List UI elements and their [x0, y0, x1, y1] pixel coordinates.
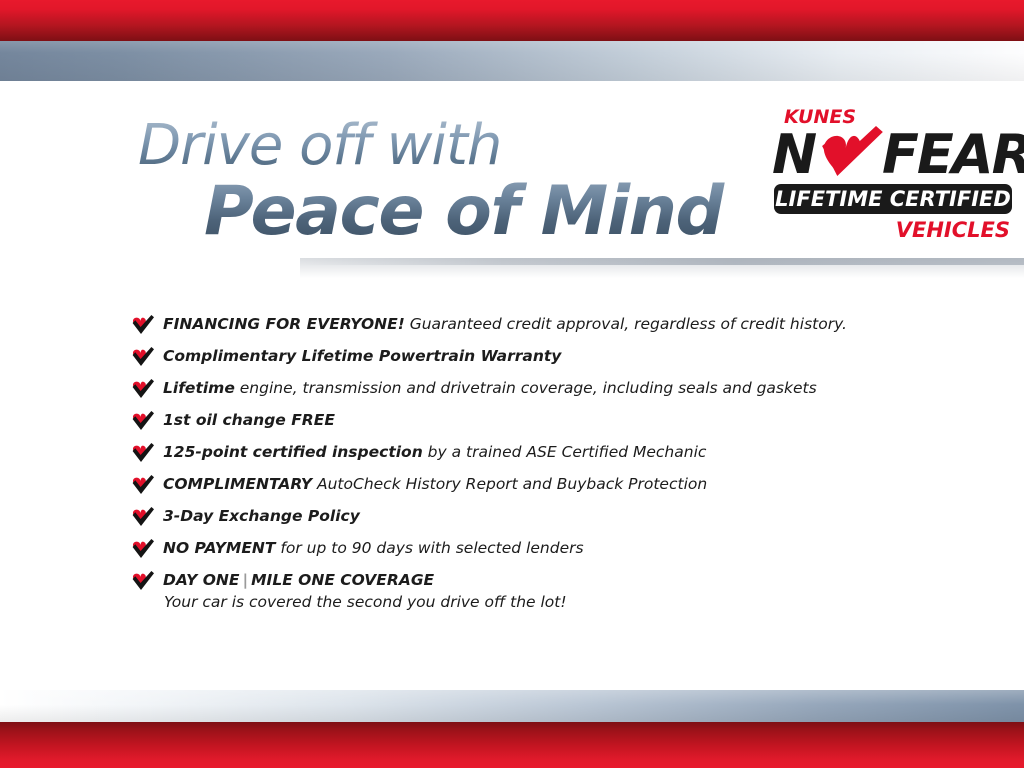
logo-certified-bar: LIFETIME CERTIFIED — [774, 184, 1012, 214]
list-item-rest: engine, transmission and drivetrain cove… — [235, 379, 817, 397]
list-item-text: 3-Day Exchange Policy — [163, 503, 961, 527]
heart-check-icon — [131, 442, 155, 464]
logo-wordmark: N FEAR — [770, 128, 1016, 186]
bottom-red-band — [0, 722, 1024, 768]
top-red-band — [0, 0, 1024, 41]
headline: Drive off with Peace of Mind — [138, 118, 758, 248]
headline-divider-shadow — [300, 258, 1024, 278]
list-item-rest: by a trained ASE Certified Mechanic — [423, 443, 707, 461]
list-item-text: 125-point certified inspection by a trai… — [163, 439, 961, 463]
list-item-bold: Complimentary Lifetime Powertrain Warran… — [163, 347, 561, 365]
list-item-bold: FINANCING FOR EVERYONE! — [163, 315, 405, 333]
top-gray-band-shade — [0, 41, 1024, 81]
heart-check-icon — [131, 474, 155, 496]
list-item-subtext: Your car is covered the second you drive… — [163, 591, 961, 613]
list-item-rest: Guaranteed credit approval, regardless o… — [405, 315, 847, 333]
list-item-text: Lifetime engine, transmission and drivet… — [163, 375, 961, 399]
heart-check-icon — [131, 506, 155, 528]
list-item: COMPLIMENTARY AutoCheck History Report a… — [131, 471, 961, 503]
list-item-rest: for up to 90 days with selected lenders — [275, 539, 583, 557]
list-item-text: 1st oil change FREE — [163, 407, 961, 431]
list-item-rest: AutoCheck History Report and Buyback Pro… — [312, 475, 707, 493]
list-item-text: NO PAYMENT for up to 90 days with select… — [163, 535, 961, 559]
list-item: 125-point certified inspection by a trai… — [131, 439, 961, 471]
heart-check-icon — [131, 538, 155, 560]
headline-line-2: Peace of Mind — [204, 176, 758, 248]
list-item-bold: NO PAYMENT — [163, 539, 275, 557]
list-item-bold: 1st oil change FREE — [163, 411, 335, 429]
heart-check-icon — [814, 126, 890, 188]
list-item: DAY ONE|MILE ONE COVERAGE Your car is co… — [131, 567, 961, 621]
logo-letter-n: N — [772, 128, 815, 182]
headline-line-1: Drive off with — [138, 118, 758, 174]
promo-banner: Drive off with Peace of Mind KUNES N FEA… — [0, 0, 1024, 768]
list-item-text: COMPLIMENTARY AutoCheck History Report a… — [163, 471, 961, 495]
benefits-list: FINANCING FOR EVERYONE! Guaranteed credi… — [131, 311, 961, 621]
list-item: FINANCING FOR EVERYONE! Guaranteed credi… — [131, 311, 961, 343]
heart-check-icon — [131, 314, 155, 336]
list-item-bold: 125-point certified inspection — [163, 443, 423, 461]
list-item: Complimentary Lifetime Powertrain Warran… — [131, 343, 961, 375]
list-item: NO PAYMENT for up to 90 days with select… — [131, 535, 961, 567]
list-item-text: DAY ONE|MILE ONE COVERAGE — [163, 567, 961, 591]
list-item-bold: Lifetime — [163, 379, 235, 397]
heart-check-icon — [131, 378, 155, 400]
list-item-separator: | — [239, 571, 251, 589]
heart-check-icon — [131, 410, 155, 432]
list-item-bold: 3-Day Exchange Policy — [163, 507, 360, 525]
kunes-no-fear-logo: KUNES N FEAR LIFETIME CERTIFIED VEHICLES — [770, 106, 1016, 246]
bottom-gray-band-shade — [0, 690, 1024, 722]
list-item: 3-Day Exchange Policy — [131, 503, 961, 535]
logo-certified-bar-text: LIFETIME CERTIFIED — [775, 187, 1011, 211]
list-item-text: FINANCING FOR EVERYONE! Guaranteed credi… — [163, 311, 961, 335]
heart-check-icon — [131, 346, 155, 368]
list-item-bold: COMPLIMENTARY — [163, 475, 312, 493]
list-item-bold-mile-one: MILE ONE COVERAGE — [251, 571, 434, 589]
list-item-bold-day-one: DAY ONE — [163, 571, 239, 589]
logo-vehicles-text: VEHICLES — [896, 218, 1010, 242]
list-item: Lifetime engine, transmission and drivet… — [131, 375, 961, 407]
heart-check-icon — [131, 570, 155, 592]
list-item: 1st oil change FREE — [131, 407, 961, 439]
list-item-text: Complimentary Lifetime Powertrain Warran… — [163, 343, 961, 367]
logo-word-fear: FEAR — [882, 128, 1024, 182]
